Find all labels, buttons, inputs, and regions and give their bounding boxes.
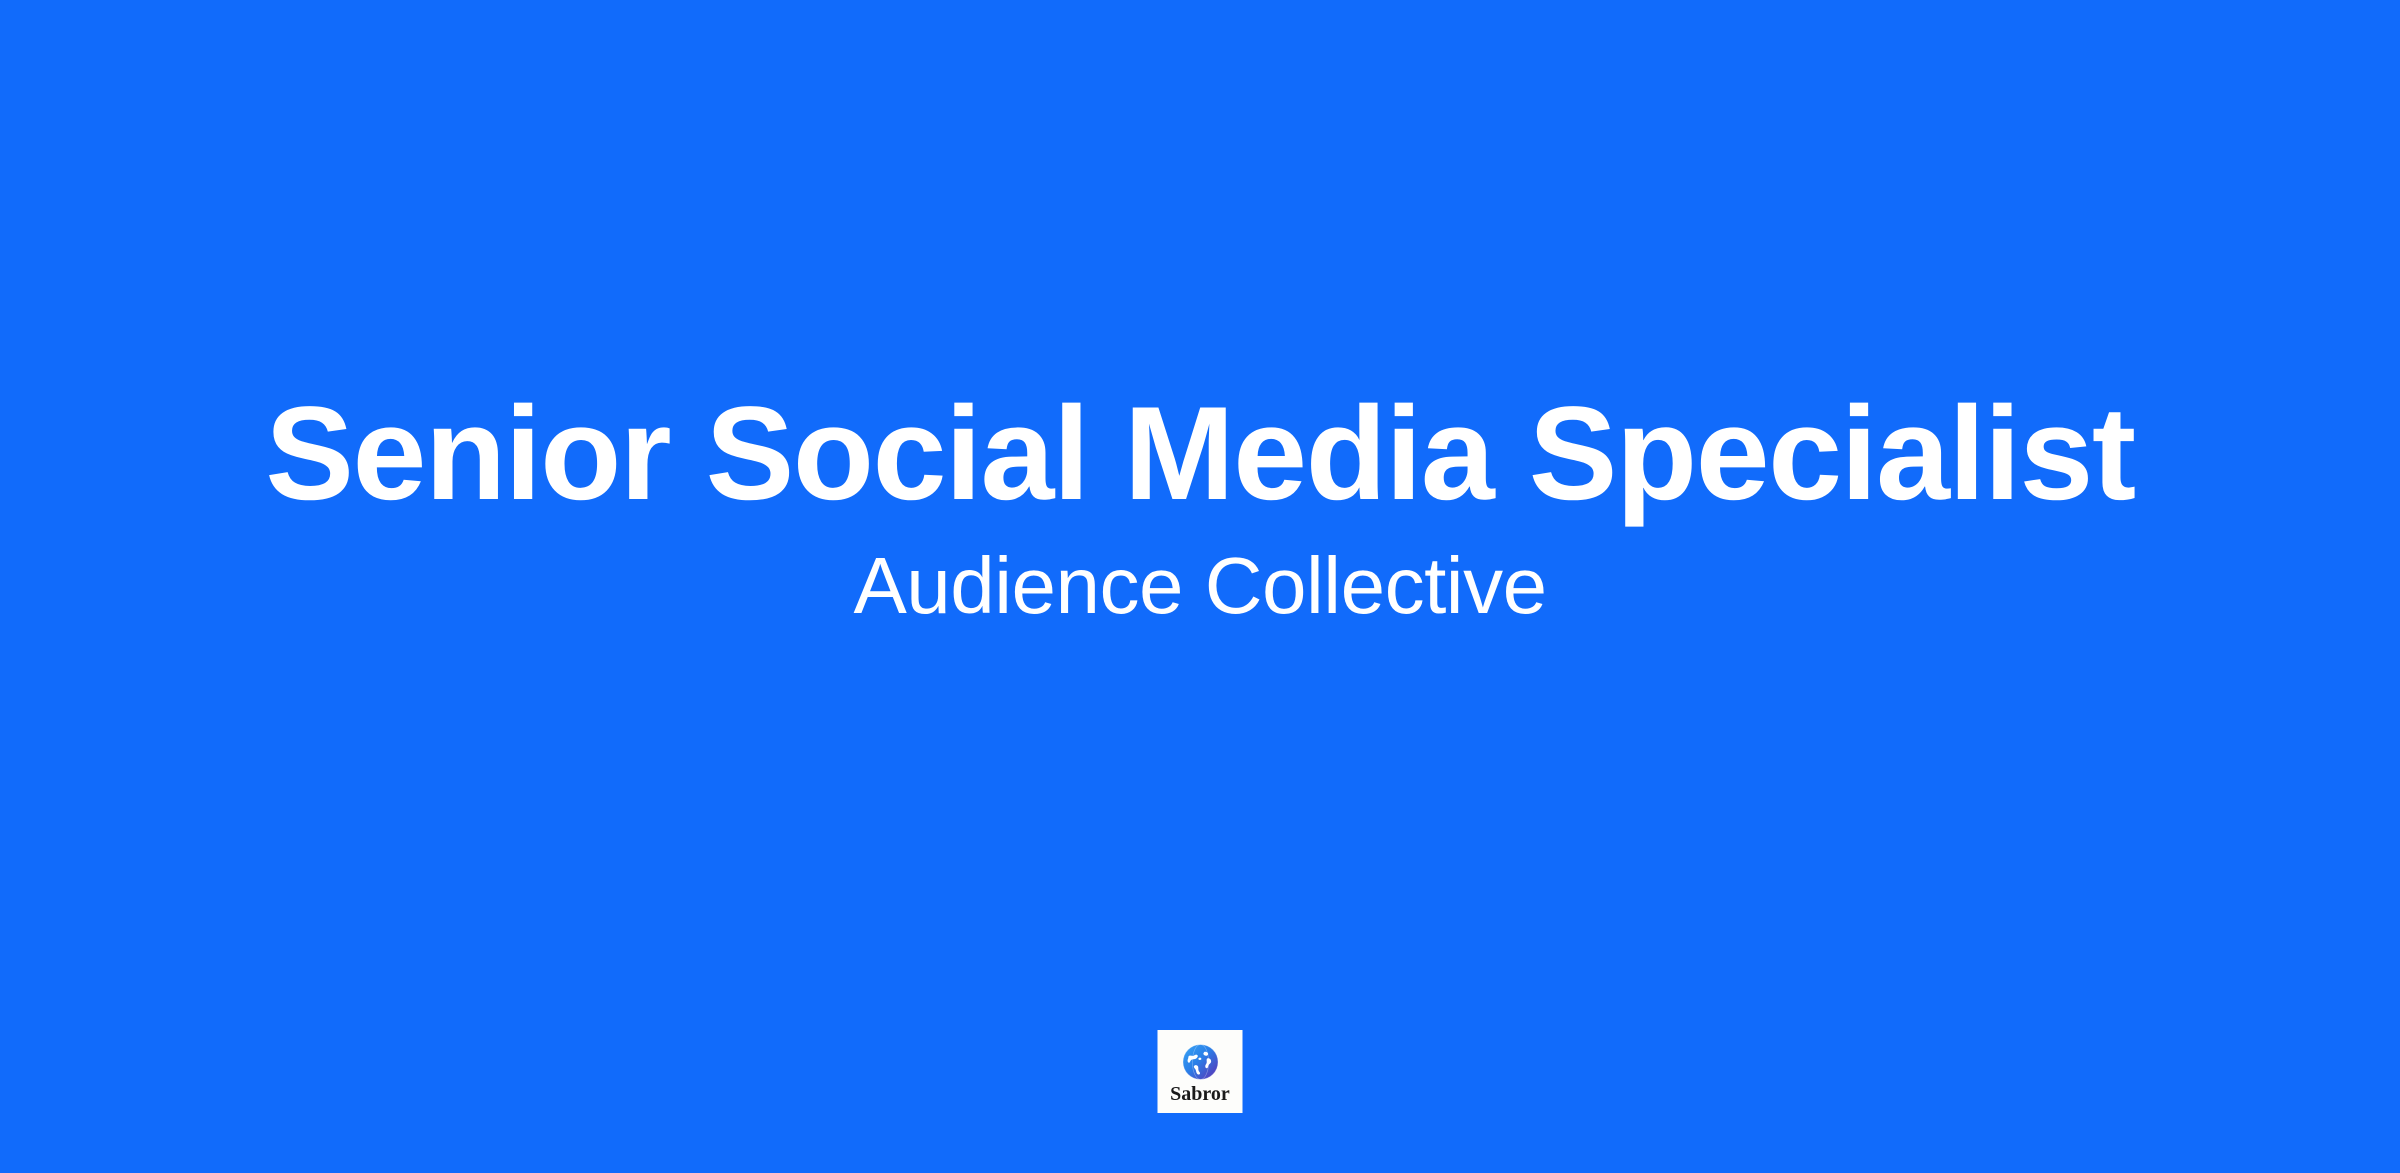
page-title: Senior Social Media Specialist — [80, 388, 2320, 521]
brand-logo-card[interactable]: Sabror — [1158, 1030, 1243, 1113]
brand-wordmark: Sabror — [1170, 1084, 1230, 1104]
hero-copy: Senior Social Media Specialist Audience … — [0, 388, 2400, 629]
globe-icon — [1180, 1042, 1220, 1082]
company-name: Audience Collective — [80, 521, 2320, 629]
brand-logo[interactable]: Sabror — [1158, 1030, 1243, 1113]
job-posting-hero: Senior Social Media Specialist Audience … — [0, 0, 2400, 1173]
